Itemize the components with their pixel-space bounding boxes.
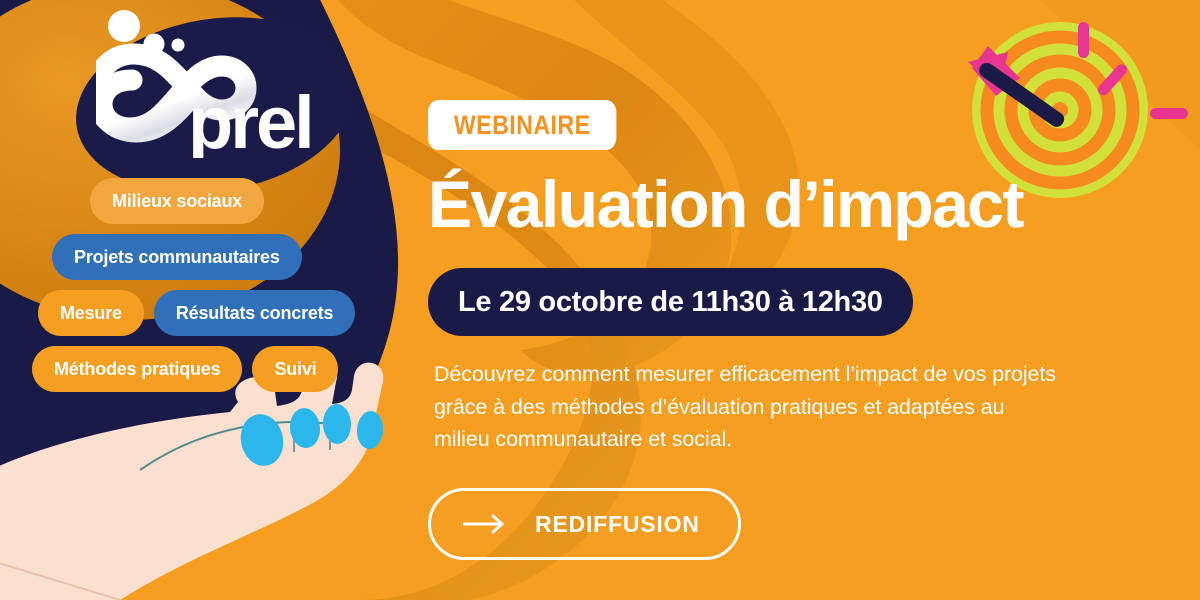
tag-milieux-sociaux[interactable]: Milieux sociaux <box>90 178 264 224</box>
content-column: WEBINAIRE Évaluation d’impact Le 29 octo… <box>428 0 1108 600</box>
tag-methodes-pratiques[interactable]: Méthodes pratiques <box>32 346 242 392</box>
webinar-banner: prel Milieux sociaux Projets communautai… <box>0 0 1200 600</box>
event-date-badge: Le 29 octobre de 11h30 à 12h30 <box>428 268 913 336</box>
arrow-right-icon <box>463 514 507 534</box>
tag-mesure[interactable]: Mesure <box>38 290 144 336</box>
tag-suivi[interactable]: Suivi <box>252 346 338 392</box>
prel-wordmark: prel <box>188 81 311 158</box>
prel-logo: prel <box>96 8 311 158</box>
rediffusion-button-label: REDIFFUSION <box>535 511 700 538</box>
tag-resultats-concrets[interactable]: Résultats concrets <box>154 290 355 336</box>
webinar-badge: WEBINAIRE <box>428 100 616 150</box>
tag-projets-communautaires[interactable]: Projets communautaires <box>52 234 302 280</box>
rediffusion-button[interactable]: REDIFFUSION <box>428 488 741 560</box>
event-description: Découvrez comment mesurer efficacement l… <box>434 358 1064 456</box>
page-title: Évaluation d’impact <box>428 170 1023 239</box>
topic-tag-list: Milieux sociaux Projets communautaires M… <box>0 178 348 402</box>
